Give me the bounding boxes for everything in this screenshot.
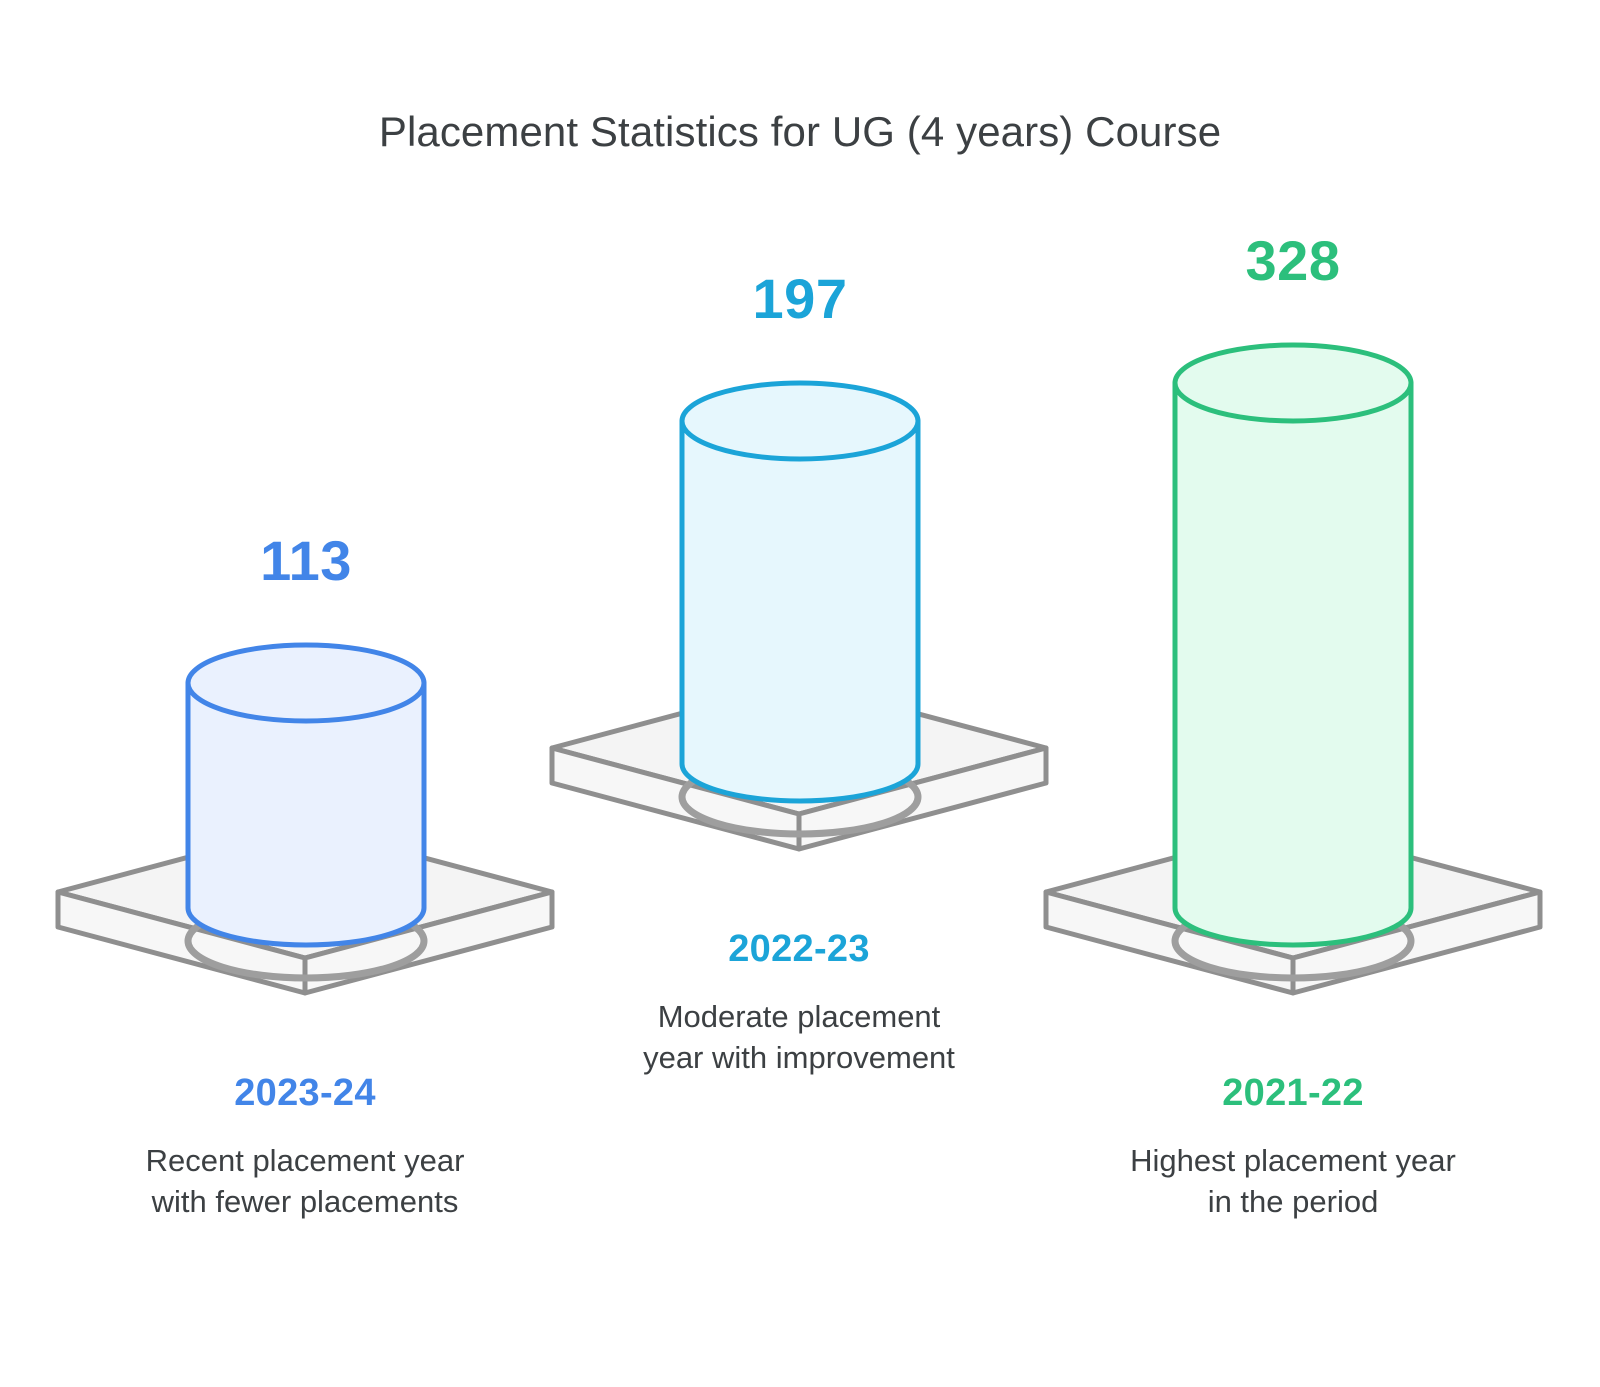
value-label-2022-23: 197 <box>650 266 950 331</box>
cylinder-top-ellipse <box>1175 345 1411 421</box>
caption-description-line-1: Highest placement year <box>1043 1141 1543 1182</box>
caption-2023-24: 2023-24 Recent placement year with fewer… <box>55 1073 555 1223</box>
caption-2022-23: 2022-23 Moderate placement year with imp… <box>549 929 1049 1079</box>
caption-2021-22: 2021-22 Highest placement year in the pe… <box>1043 1073 1543 1223</box>
caption-year-label: 2023-24 <box>55 1073 555 1115</box>
caption-description: Highest placement year in the period <box>1043 1141 1543 1223</box>
caption-description-line-2: year with improvement <box>549 1038 1049 1079</box>
caption-year-label: 2022-23 <box>549 929 1049 971</box>
cylinder-2021-22[interactable] <box>1175 345 1411 945</box>
caption-description-line-1: Moderate placement <box>549 997 1049 1038</box>
caption-description: Recent placement year with fewer placeme… <box>55 1141 555 1223</box>
value-label-2021-22: 328 <box>1143 228 1443 293</box>
caption-description-line-1: Recent placement year <box>55 1141 555 1182</box>
value-label-2023-24: 113 <box>156 528 456 593</box>
column-group-2023-24[interactable] <box>58 645 552 993</box>
column-group-2022-23[interactable] <box>552 383 1046 849</box>
cylinder-2022-23[interactable] <box>682 383 918 801</box>
cylinder-side-surface <box>1175 383 1411 945</box>
cylinder-top-ellipse <box>188 645 424 721</box>
infographic-canvas: Placement Statistics for UG (4 years) Co… <box>0 0 1600 1387</box>
cylinder-top-ellipse <box>682 383 918 459</box>
caption-description-line-2: with fewer placements <box>55 1182 555 1223</box>
caption-year-label: 2021-22 <box>1043 1073 1543 1115</box>
caption-description: Moderate placement year with improvement <box>549 997 1049 1079</box>
cylinder-side-surface <box>682 421 918 801</box>
column-group-2021-22[interactable] <box>1046 345 1540 993</box>
cylinder-2023-24[interactable] <box>188 645 424 945</box>
caption-description-line-2: in the period <box>1043 1182 1543 1223</box>
